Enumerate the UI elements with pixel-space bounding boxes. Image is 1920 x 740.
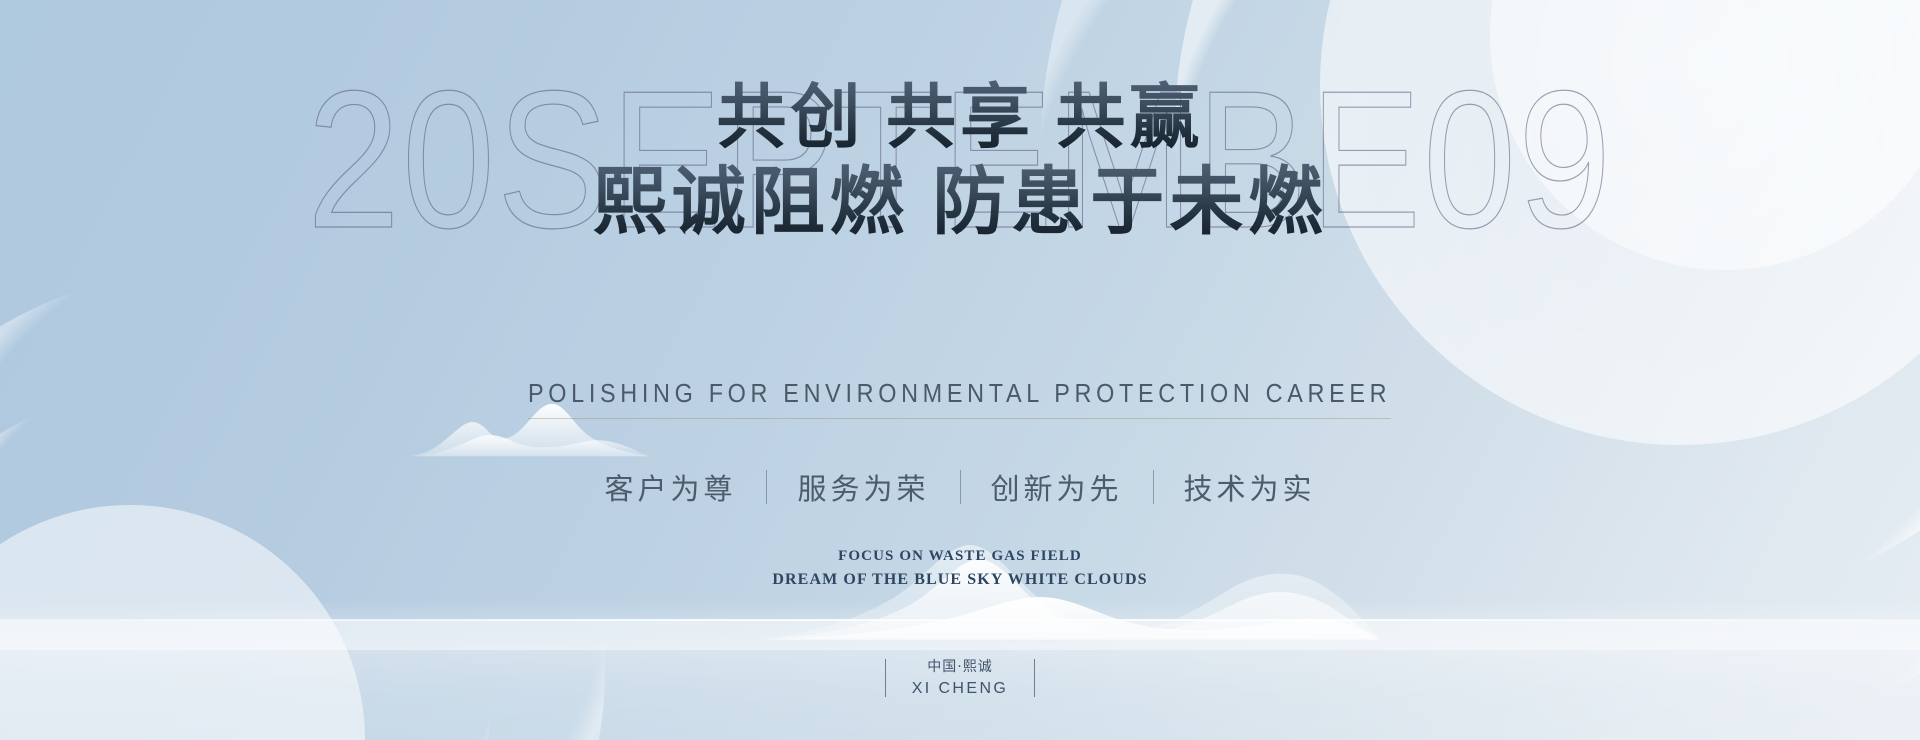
serif-subtext-line-2: DREAM OF THE BLUE SKY WHITE CLOUDS xyxy=(0,568,1920,593)
footer-brand-stack: 中国·熙诚 XI CHENG xyxy=(912,656,1009,699)
footer-brand-cn: 中国·熙诚 xyxy=(927,659,992,675)
values-row: 客户为尊 服务为荣 创新为先 技术为实 xyxy=(0,466,1920,508)
value-item-2: 服务为荣 xyxy=(767,466,959,508)
english-tagline: POLISHING FOR ENVIRONMENTAL PROTECTION C… xyxy=(528,378,1391,419)
serif-subtext-line-1: FOCUS ON WASTE GAS FIELD xyxy=(0,545,1920,568)
floor-edge-line xyxy=(0,619,1920,621)
headline-line-1: 共创 共享 共赢 xyxy=(0,80,1920,158)
value-item-4: 技术为实 xyxy=(1154,466,1346,508)
footer-brand-en: XI CHENG xyxy=(912,680,1009,697)
english-tagline-wrap: POLISHING FOR ENVIRONMENTAL PROTECTION C… xyxy=(0,378,1920,419)
hero-banner: 20SEPTEMBE09 共创 共享 共赢 熙诚阻燃 防患于未燃 POLISHI… xyxy=(0,0,1920,740)
value-item-1: 客户为尊 xyxy=(574,466,766,508)
footer-brand-mark: 中国·熙诚 XI CHENG xyxy=(0,656,1920,699)
headline-line-2: 熙诚阻燃 防患于未燃 xyxy=(0,162,1920,245)
serif-subtext-group: FOCUS ON WASTE GAS FIELD DREAM OF THE BL… xyxy=(0,545,1920,593)
headline-group: 共创 共享 共赢 熙诚阻燃 防患于未燃 xyxy=(0,80,1920,245)
footer-divider-left xyxy=(885,659,886,697)
footer-divider-right xyxy=(1034,659,1035,697)
value-item-3: 创新为先 xyxy=(961,466,1153,508)
